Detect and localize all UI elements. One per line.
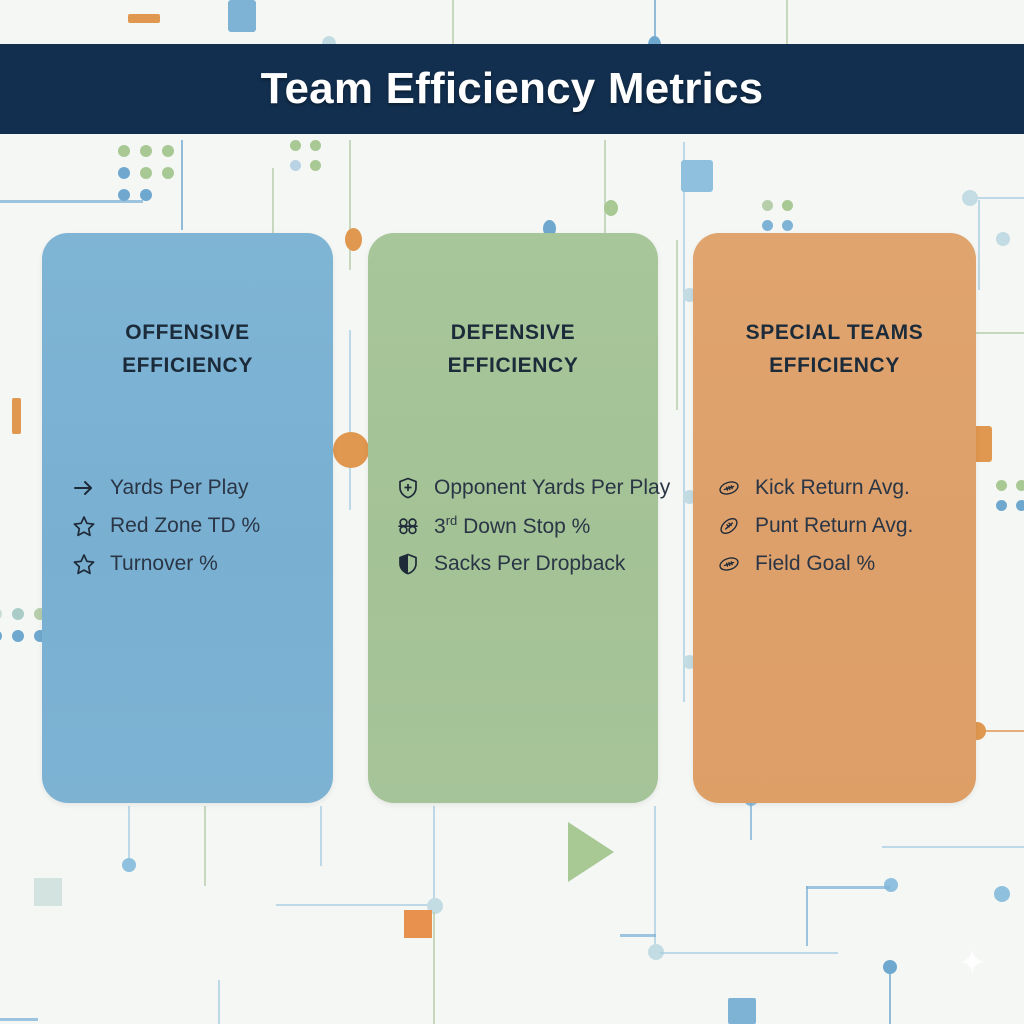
decor-orange-oval-top xyxy=(345,228,362,251)
decor-hline-bottom-4 xyxy=(620,934,656,937)
decor-node-right-2 xyxy=(996,232,1010,246)
decor-hline-bottom-1 xyxy=(0,1018,38,1021)
metric-item[interactable]: Kick Return Avg. xyxy=(717,469,976,507)
decor-hline-bottom-5 xyxy=(882,846,1024,848)
decor-node-bottom-1 xyxy=(122,858,136,872)
metric-label: Sacks Per Dropback xyxy=(434,552,625,576)
decor-vline-mid-5 xyxy=(676,240,678,410)
card-title-defensive-line1: DEFENSIVE xyxy=(382,317,644,350)
card-title-special-teams-line1: SPECIAL TEAMS xyxy=(707,317,962,350)
decor-vline-right-1 xyxy=(978,200,980,290)
metric-list-offensive: Yards Per Play Red Zone TD % Turnover % xyxy=(42,469,333,583)
football-icon xyxy=(717,552,741,576)
metric-item[interactable]: Red Zone TD % xyxy=(72,507,333,545)
decor-vline-top-2 xyxy=(452,0,454,46)
decor-orange-square-bottom xyxy=(404,910,432,938)
shield-half-icon xyxy=(396,552,420,576)
decor-vline-mid-2 xyxy=(349,330,351,510)
decor-node-right-1 xyxy=(962,190,978,206)
decor-hline-bottom-6 xyxy=(806,886,890,889)
decor-vline-bottom-4 xyxy=(433,806,435,901)
decor-node-bottom-6 xyxy=(994,886,1010,902)
metric-item[interactable]: Sacks Per Dropback xyxy=(396,545,658,583)
metric-label: Kick Return Avg. xyxy=(755,476,910,500)
decor-blue-square-bottom xyxy=(728,998,756,1024)
metric-list-defensive: Opponent Yards Per Play 3rd Down Stop % xyxy=(368,469,658,583)
card-title-defensive: DEFENSIVE EFFICIENCY xyxy=(368,317,658,382)
metric-item[interactable]: Field Goal % xyxy=(717,545,976,583)
decor-vline-top-4 xyxy=(786,0,788,46)
metric-label: Field Goal % xyxy=(755,552,875,576)
decor-pale-square-bottom xyxy=(34,878,62,906)
metric-item[interactable]: Yards Per Play xyxy=(72,469,333,507)
metric-label: Yards Per Play xyxy=(110,476,249,500)
decor-play-triangle xyxy=(568,822,614,882)
decor-vline-bottom-8 xyxy=(889,970,891,1024)
star-icon xyxy=(72,514,96,538)
decor-vline-bottom-7 xyxy=(654,806,656,952)
whistle-icon xyxy=(396,514,420,538)
metric-item[interactable]: 3rd Down Stop % xyxy=(396,507,658,545)
decor-vline-bottom-1 xyxy=(128,806,130,866)
card-title-special-teams-line2: EFFICIENCY xyxy=(707,350,962,383)
metric-item[interactable]: Turnover % xyxy=(72,545,333,583)
card-title-offensive: OFFENSIVE EFFICIENCY xyxy=(42,317,333,382)
metric-label: Turnover % xyxy=(110,552,218,576)
decor-vline-mid-4 xyxy=(683,142,685,702)
card-defensive-efficiency[interactable]: DEFENSIVE EFFICIENCY Opponent Yards Per … xyxy=(368,233,658,803)
decor-vline-mid-3 xyxy=(604,140,606,240)
star-icon xyxy=(72,552,96,576)
arrow-right-icon xyxy=(72,476,96,500)
metric-list-special-teams: Kick Return Avg. Punt Return Avg. xyxy=(693,469,976,583)
decor-vline-left-1 xyxy=(181,140,183,230)
metric-label: Opponent Yards Per Play xyxy=(434,476,670,500)
decor-hline-right-1 xyxy=(978,197,1024,199)
decor-vline-bottom-3 xyxy=(218,980,220,1024)
decor-dotgrid-top-right xyxy=(762,200,793,231)
card-offensive-efficiency[interactable]: OFFENSIVE EFFICIENCY Yards Per Play Red … xyxy=(42,233,333,803)
metric-label: Red Zone TD % xyxy=(110,514,260,538)
metric-label: Punt Return Avg. xyxy=(755,514,913,538)
page-title: Team Efficiency Metrics xyxy=(261,64,764,114)
metric-label-prefix: 3 xyxy=(434,515,446,538)
card-title-offensive-line2: EFFICIENCY xyxy=(56,350,319,383)
decor-vline-bottom-2 xyxy=(204,806,206,886)
decor-hline-right-3 xyxy=(984,730,1024,732)
metric-item[interactable]: Punt Return Avg. xyxy=(717,507,976,545)
card-special-teams-efficiency[interactable]: SPECIAL TEAMS EFFICIENCY Kick Return Avg… xyxy=(693,233,976,803)
football-tilt-icon xyxy=(717,514,741,538)
metric-label-sup: rd xyxy=(446,513,458,528)
metric-label-main: Down Stop % xyxy=(457,515,590,538)
decor-vline-bottom-5 xyxy=(433,912,435,1024)
decor-vline-bottom-10 xyxy=(750,800,752,840)
card-title-special-teams: SPECIAL TEAMS EFFICIENCY xyxy=(693,317,976,382)
decor-blue-square-top xyxy=(228,0,256,32)
decor-node-mid-1 xyxy=(604,200,618,216)
decor-hline-bottom-2 xyxy=(276,904,434,906)
decor-dotgrid-left-mid xyxy=(0,608,46,642)
decor-sparkle: ✦ xyxy=(958,946,987,980)
decor-blue-square-mid xyxy=(681,160,713,192)
decor-orange-dash-top xyxy=(128,14,160,23)
decor-vline-bottom-9 xyxy=(806,886,808,946)
title-banner: Team Efficiency Metrics xyxy=(0,44,1024,134)
decor-orange-bar-left xyxy=(12,398,21,434)
card-title-offensive-line1: OFFENSIVE xyxy=(56,317,319,350)
decor-vline-left-2 xyxy=(272,168,274,234)
card-title-defensive-line2: EFFICIENCY xyxy=(382,350,644,383)
decor-dotgrid-topleft xyxy=(118,145,174,201)
decor-vline-bottom-6 xyxy=(320,806,322,866)
infographic-canvas: ✦ Team Efficiency Metrics OFFENSIVE EFFI… xyxy=(0,0,1024,1024)
shield-plus-icon xyxy=(396,476,420,500)
decor-orange-circle-gap xyxy=(333,432,369,468)
metric-label: 3rd Down Stop % xyxy=(434,513,590,539)
decor-dotgrid-top-mid xyxy=(290,140,321,171)
decor-hline-bottom-3 xyxy=(660,952,838,954)
football-icon xyxy=(717,476,741,500)
metric-item[interactable]: Opponent Yards Per Play xyxy=(396,469,658,507)
decor-dotgrid-right-mid xyxy=(996,480,1024,511)
decor-node-bottom-4 xyxy=(884,878,898,892)
